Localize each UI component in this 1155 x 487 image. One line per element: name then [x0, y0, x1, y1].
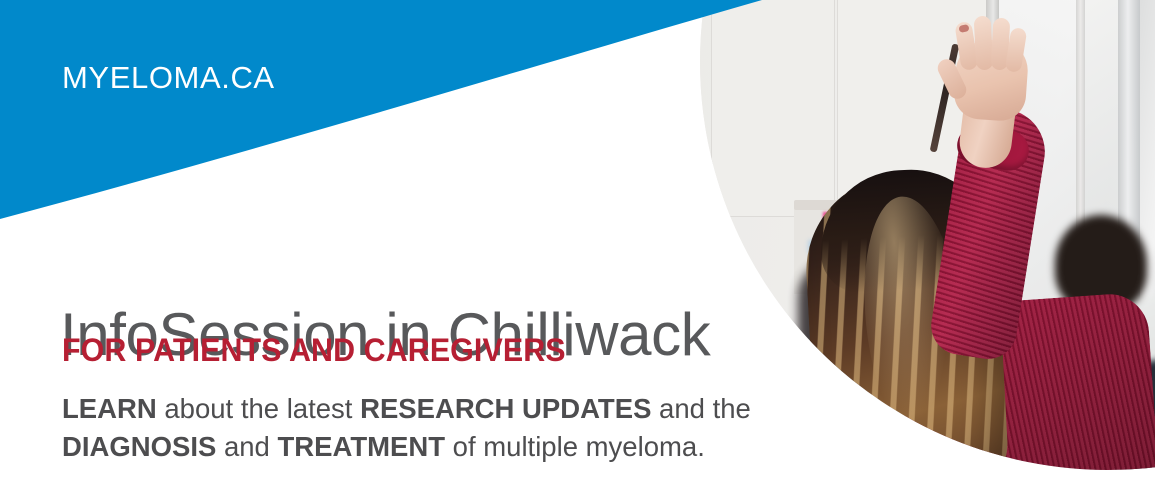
- seminar-room-photo: [690, 0, 1155, 487]
- description-copy: LEARN about the latest RESEARCH UPDATES …: [62, 390, 751, 466]
- description-line-2: DIAGNOSIS and TREATMENT of multiple myel…: [62, 428, 751, 466]
- keyword-learn: LEARN: [62, 393, 157, 424]
- audience-subtitle: FOR PATIENTS AND CAREGIVERS: [62, 334, 566, 366]
- infosession-banner: MYELOMA.CA InfoSession in Chilliwack FOR…: [0, 0, 1155, 487]
- keyword-diagnosis: DIAGNOSIS: [62, 431, 216, 462]
- keyword-treatment: TREATMENT: [278, 431, 446, 462]
- keyword-research-updates: RESEARCH UPDATES: [360, 393, 651, 424]
- description-line-1: LEARN about the latest RESEARCH UPDATES …: [62, 390, 751, 428]
- text-line2-end: of multiple myeloma.: [445, 431, 705, 462]
- text-line1-mid: about the latest: [157, 393, 360, 424]
- whiteboard-left: [712, 0, 834, 216]
- brand-wordmark: MYELOMA.CA: [62, 62, 275, 93]
- text-line1-end: and the: [651, 393, 750, 424]
- text-line2-mid: and: [216, 431, 277, 462]
